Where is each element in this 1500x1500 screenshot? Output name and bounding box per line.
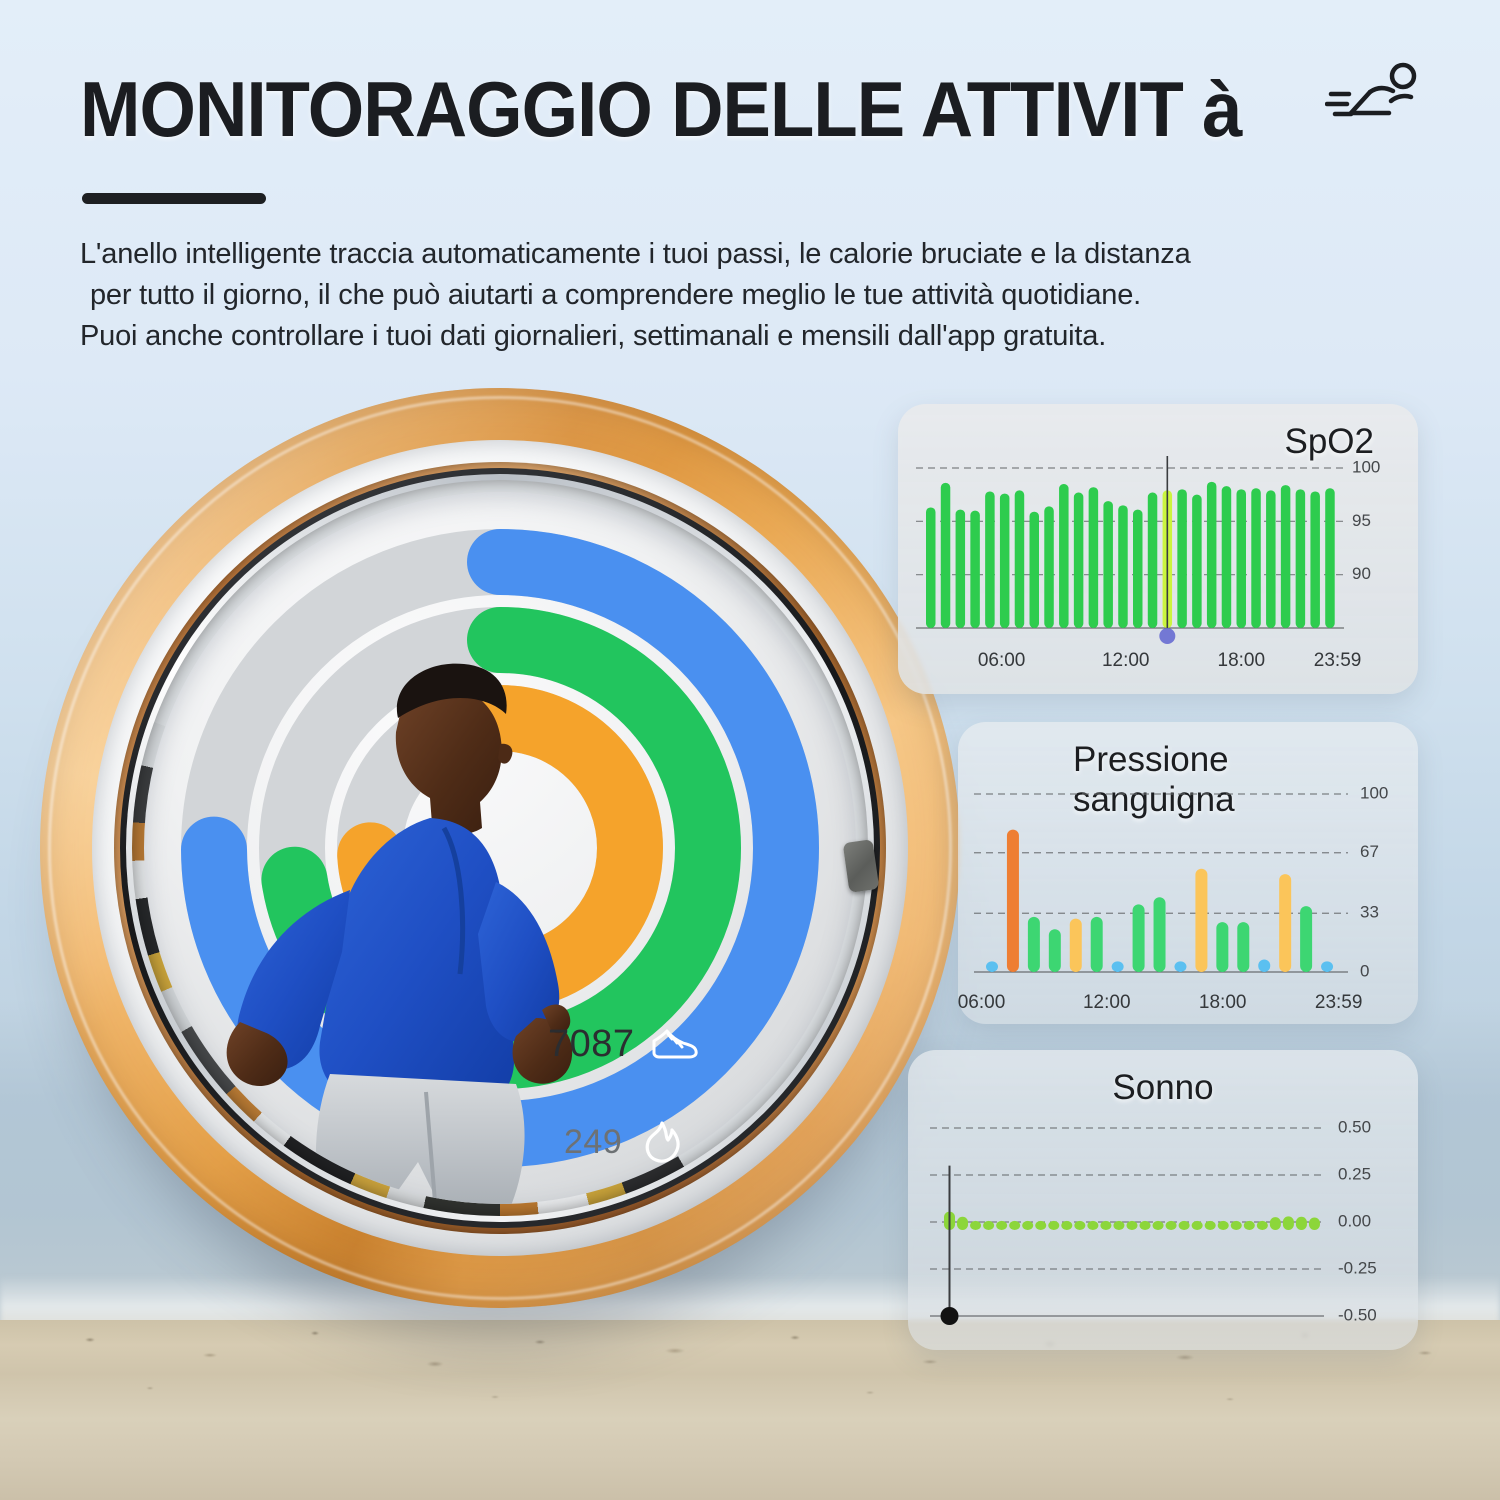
- bar: [996, 1221, 1007, 1230]
- bar: [1030, 512, 1040, 628]
- header: MONITORAGGIO DELLE ATTIVIT à L'anello in…: [0, 0, 1500, 358]
- spo2-x-tick-labels: 06:0012:0018:0023:59: [978, 650, 1362, 671]
- spo2-y-tick-labels: 1009590: [1352, 457, 1380, 583]
- x-tick-label: 23:59: [1315, 992, 1363, 1013]
- bar: [1207, 482, 1217, 628]
- bar: [1061, 1221, 1072, 1230]
- bar: [1133, 510, 1143, 628]
- bar: [1300, 906, 1312, 972]
- bar: [1049, 929, 1061, 972]
- running-person-icon: [1325, 61, 1421, 138]
- bar: [1103, 501, 1113, 628]
- bar: [1133, 904, 1145, 972]
- bar: [1166, 1221, 1177, 1230]
- metric-distance[interactable]: 3.61: [562, 1198, 698, 1204]
- bar: [1112, 961, 1124, 972]
- bar: [986, 961, 998, 972]
- bar: [1222, 486, 1232, 628]
- bar: [983, 1221, 994, 1230]
- bar: [1195, 869, 1207, 972]
- bar: [1028, 917, 1040, 972]
- bar: [1321, 961, 1333, 972]
- bar: [1000, 494, 1010, 628]
- bar: [1258, 960, 1270, 972]
- bar: [1126, 1221, 1137, 1230]
- bar: [1192, 495, 1202, 628]
- bar: [970, 1221, 981, 1230]
- bar: [1087, 1221, 1098, 1230]
- x-tick-label: 06:00: [978, 650, 1026, 671]
- description-line-2: per tutto il giorno, il che può aiutarti…: [80, 275, 1500, 316]
- bar: [1205, 1221, 1216, 1230]
- bar: [941, 483, 951, 628]
- bp-x-tick-labels: 06:0012:0018:0023:59: [958, 992, 1362, 1013]
- bar: [1325, 488, 1335, 628]
- bar: [1044, 506, 1054, 628]
- sleep-card: Sonno 0.500.250.00-0.25-0.50: [908, 1050, 1418, 1350]
- metric-steps-value: 7087: [548, 1023, 635, 1066]
- bar: [1118, 505, 1128, 628]
- x-tick-label: 12:00: [1102, 650, 1150, 671]
- spo2-bars: [926, 456, 1335, 644]
- bar: [1218, 1221, 1229, 1230]
- page-title: MONITORAGGIO DELLE ATTIVIT à: [80, 64, 1241, 155]
- y-tick-label: -0.50: [1338, 1305, 1377, 1324]
- bar: [1059, 484, 1069, 628]
- spo2-gridlines: [916, 468, 1344, 628]
- bar: [1174, 961, 1186, 972]
- description-paragraph: L'anello intelligente traccia automatica…: [80, 234, 1500, 358]
- bar: [1035, 1221, 1046, 1230]
- bar: [1154, 897, 1166, 972]
- bar: [1153, 1221, 1164, 1230]
- location-pin-icon: [642, 1198, 698, 1204]
- bar: [1007, 830, 1019, 972]
- bp-bars: [986, 830, 1333, 972]
- y-tick-label: 0.50: [1338, 1117, 1371, 1136]
- title-divider: [82, 193, 266, 204]
- y-tick-label: 0.25: [1338, 1164, 1371, 1183]
- title-row: MONITORAGGIO DELLE ATTIVIT à: [80, 64, 1500, 155]
- bar: [1070, 919, 1082, 972]
- bar: [957, 1217, 968, 1230]
- x-tick-label: 18:00: [1199, 992, 1247, 1013]
- bar: [1113, 1221, 1124, 1230]
- y-tick-label: 100: [1360, 783, 1388, 802]
- bar: [1091, 917, 1103, 972]
- bar: [1179, 1221, 1190, 1230]
- bar: [1140, 1221, 1151, 1230]
- flame-icon: [634, 1114, 690, 1170]
- bar: [1270, 1217, 1281, 1230]
- metric-calories-value: 249: [564, 1123, 622, 1162]
- bar: [1257, 1221, 1268, 1230]
- bar: [1296, 1217, 1307, 1230]
- y-tick-label: 90: [1352, 564, 1371, 583]
- bar: [956, 510, 966, 628]
- x-tick-label: 18:00: [1218, 650, 1266, 671]
- bar: [1283, 1216, 1294, 1230]
- spo2-cursor-marker: [1159, 628, 1175, 644]
- bar: [926, 507, 936, 628]
- sleep-bars: [941, 1166, 1320, 1325]
- bar: [1089, 487, 1099, 628]
- bar: [1015, 490, 1024, 628]
- runner-shorts: [316, 1074, 525, 1204]
- bar: [1251, 488, 1261, 628]
- x-tick-label: 23:59: [1314, 650, 1362, 671]
- x-tick-label: 06:00: [958, 992, 1005, 1013]
- bar: [1231, 1221, 1242, 1230]
- bar: [1192, 1221, 1203, 1230]
- metric-steps[interactable]: 7087: [548, 1016, 703, 1072]
- y-tick-label: 67: [1360, 842, 1379, 861]
- sleep-y-tick-labels: 0.500.250.00-0.25-0.50: [1338, 1117, 1377, 1324]
- x-tick-label: 12:00: [1083, 992, 1131, 1013]
- bar: [985, 491, 995, 628]
- y-tick-label: 0.00: [1338, 1211, 1371, 1230]
- description-line-1: L'anello intelligente traccia automatica…: [80, 234, 1500, 275]
- bar: [1310, 491, 1320, 628]
- smart-ring-graphic: 7087 249 3.61: [40, 388, 960, 1308]
- y-tick-label: 100: [1352, 457, 1380, 476]
- y-tick-label: 0: [1360, 961, 1369, 980]
- bar: [1244, 1221, 1255, 1230]
- description-line-3: Puoi anche controllare i tuoi dati giorn…: [80, 316, 1500, 357]
- bar: [1237, 922, 1249, 972]
- bar: [1266, 490, 1276, 628]
- y-tick-label: 95: [1352, 511, 1371, 530]
- bar: [1148, 493, 1157, 628]
- bar: [1296, 489, 1306, 628]
- y-tick-label: 33: [1360, 903, 1379, 922]
- bar: [1281, 485, 1291, 628]
- y-tick-label: -0.25: [1338, 1258, 1377, 1277]
- ring-dial-face: 7087 249 3.61: [144, 492, 856, 1204]
- bar: [1009, 1221, 1020, 1230]
- bar: [1074, 1221, 1085, 1230]
- bar: [1048, 1221, 1059, 1230]
- bar: [970, 511, 980, 628]
- spo2-chart: 1009590 06:0012:0018:0023:59: [898, 456, 1418, 696]
- bar: [1216, 922, 1228, 972]
- blood-pressure-chart: 10067330 06:0012:0018:0023:59: [958, 780, 1418, 1024]
- bar: [1100, 1221, 1111, 1230]
- metric-calories[interactable]: 249: [564, 1114, 690, 1170]
- shoe-icon: [647, 1016, 703, 1072]
- blood-pressure-card: Pressione sanguigna 10067330 06:0012:001…: [958, 722, 1418, 1024]
- sleep-chart: 0.500.250.00-0.25-0.50: [908, 1106, 1418, 1350]
- bar: [1074, 493, 1084, 628]
- spo2-card: SpO2 1009590 06:0012:0018:0023:59: [898, 404, 1418, 694]
- bar: [1237, 489, 1247, 628]
- bar: [1309, 1217, 1320, 1230]
- bar: [1022, 1221, 1033, 1230]
- sleep-card-title: Sonno: [1112, 1068, 1213, 1108]
- bp-y-tick-labels: 10067330: [1360, 783, 1388, 980]
- sleep-cursor-marker: [941, 1307, 959, 1325]
- runner-head: [396, 664, 513, 835]
- bar: [1279, 874, 1291, 972]
- bar: [1177, 489, 1187, 628]
